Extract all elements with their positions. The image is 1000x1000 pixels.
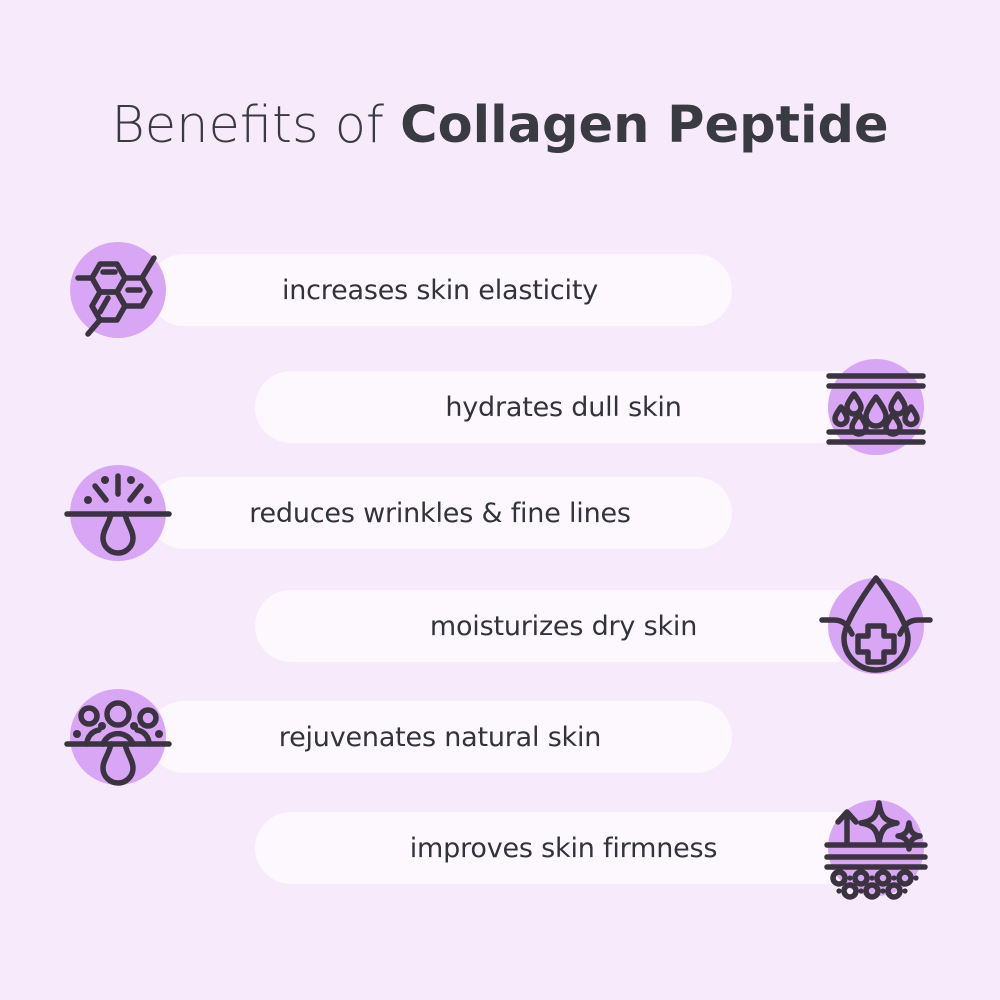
benefit-pill-2: hydrates dull skin: [255, 371, 872, 443]
skin-follicle-cells-icon: [63, 682, 173, 792]
benefit-icon-circle-3: [70, 465, 166, 561]
title-bold-part: Collagen Peptide: [400, 96, 888, 155]
benefit-row-5: rejuvenates natural skin: [0, 689, 1000, 785]
benefit-pill-4: moisturizes dry skin: [255, 590, 872, 662]
benefit-label-5: rejuvenates natural skin: [279, 722, 601, 753]
water-droplets-skin-layers-icon: [821, 352, 931, 462]
infographic-poster: Benefits of Collagen Peptide increases s…: [0, 0, 1000, 1000]
benefit-row-3: reduces wrinkles & fine lines: [0, 465, 1000, 561]
benefit-pill-6: improves skin firmness: [255, 812, 872, 884]
benefit-row-4: moisturizes dry skin: [0, 578, 1000, 674]
page-title: Benefits of Collagen Peptide: [0, 86, 1000, 165]
molecule-hexagons-icon: [70, 242, 166, 338]
benefit-pill-3: reduces wrinkles & fine lines: [148, 477, 732, 549]
benefit-row-2: hydrates dull skin: [0, 359, 1000, 455]
benefit-row-1: increases skin elasticity: [0, 242, 1000, 338]
benefit-label-6: improves skin firmness: [410, 833, 718, 864]
benefit-pill-1: increases skin elasticity: [148, 254, 732, 326]
title-light-part: Benefits of: [111, 96, 400, 155]
benefit-pill-5: rejuvenates natural skin: [148, 701, 732, 773]
benefit-label-2: hydrates dull skin: [445, 392, 681, 423]
benefit-label-1: increases skin elasticity: [282, 275, 598, 306]
benefit-row-6: improves skin firmness: [0, 800, 1000, 896]
skin-layers-arrow-sparkle-icon: [821, 793, 931, 903]
benefit-icon-circle-5: [70, 689, 166, 785]
benefit-icon-circle-1: [70, 242, 166, 338]
benefit-icon-circle-6: [828, 800, 924, 896]
benefit-icon-circle-2: [828, 359, 924, 455]
droplet-plus-icon: [818, 568, 934, 684]
benefit-label-4: moisturizes dry skin: [430, 611, 697, 642]
benefit-icon-circle-4: [828, 578, 924, 674]
skin-pore-radiating-icon: [63, 458, 173, 568]
benefit-label-3: reduces wrinkles & fine lines: [249, 498, 631, 529]
